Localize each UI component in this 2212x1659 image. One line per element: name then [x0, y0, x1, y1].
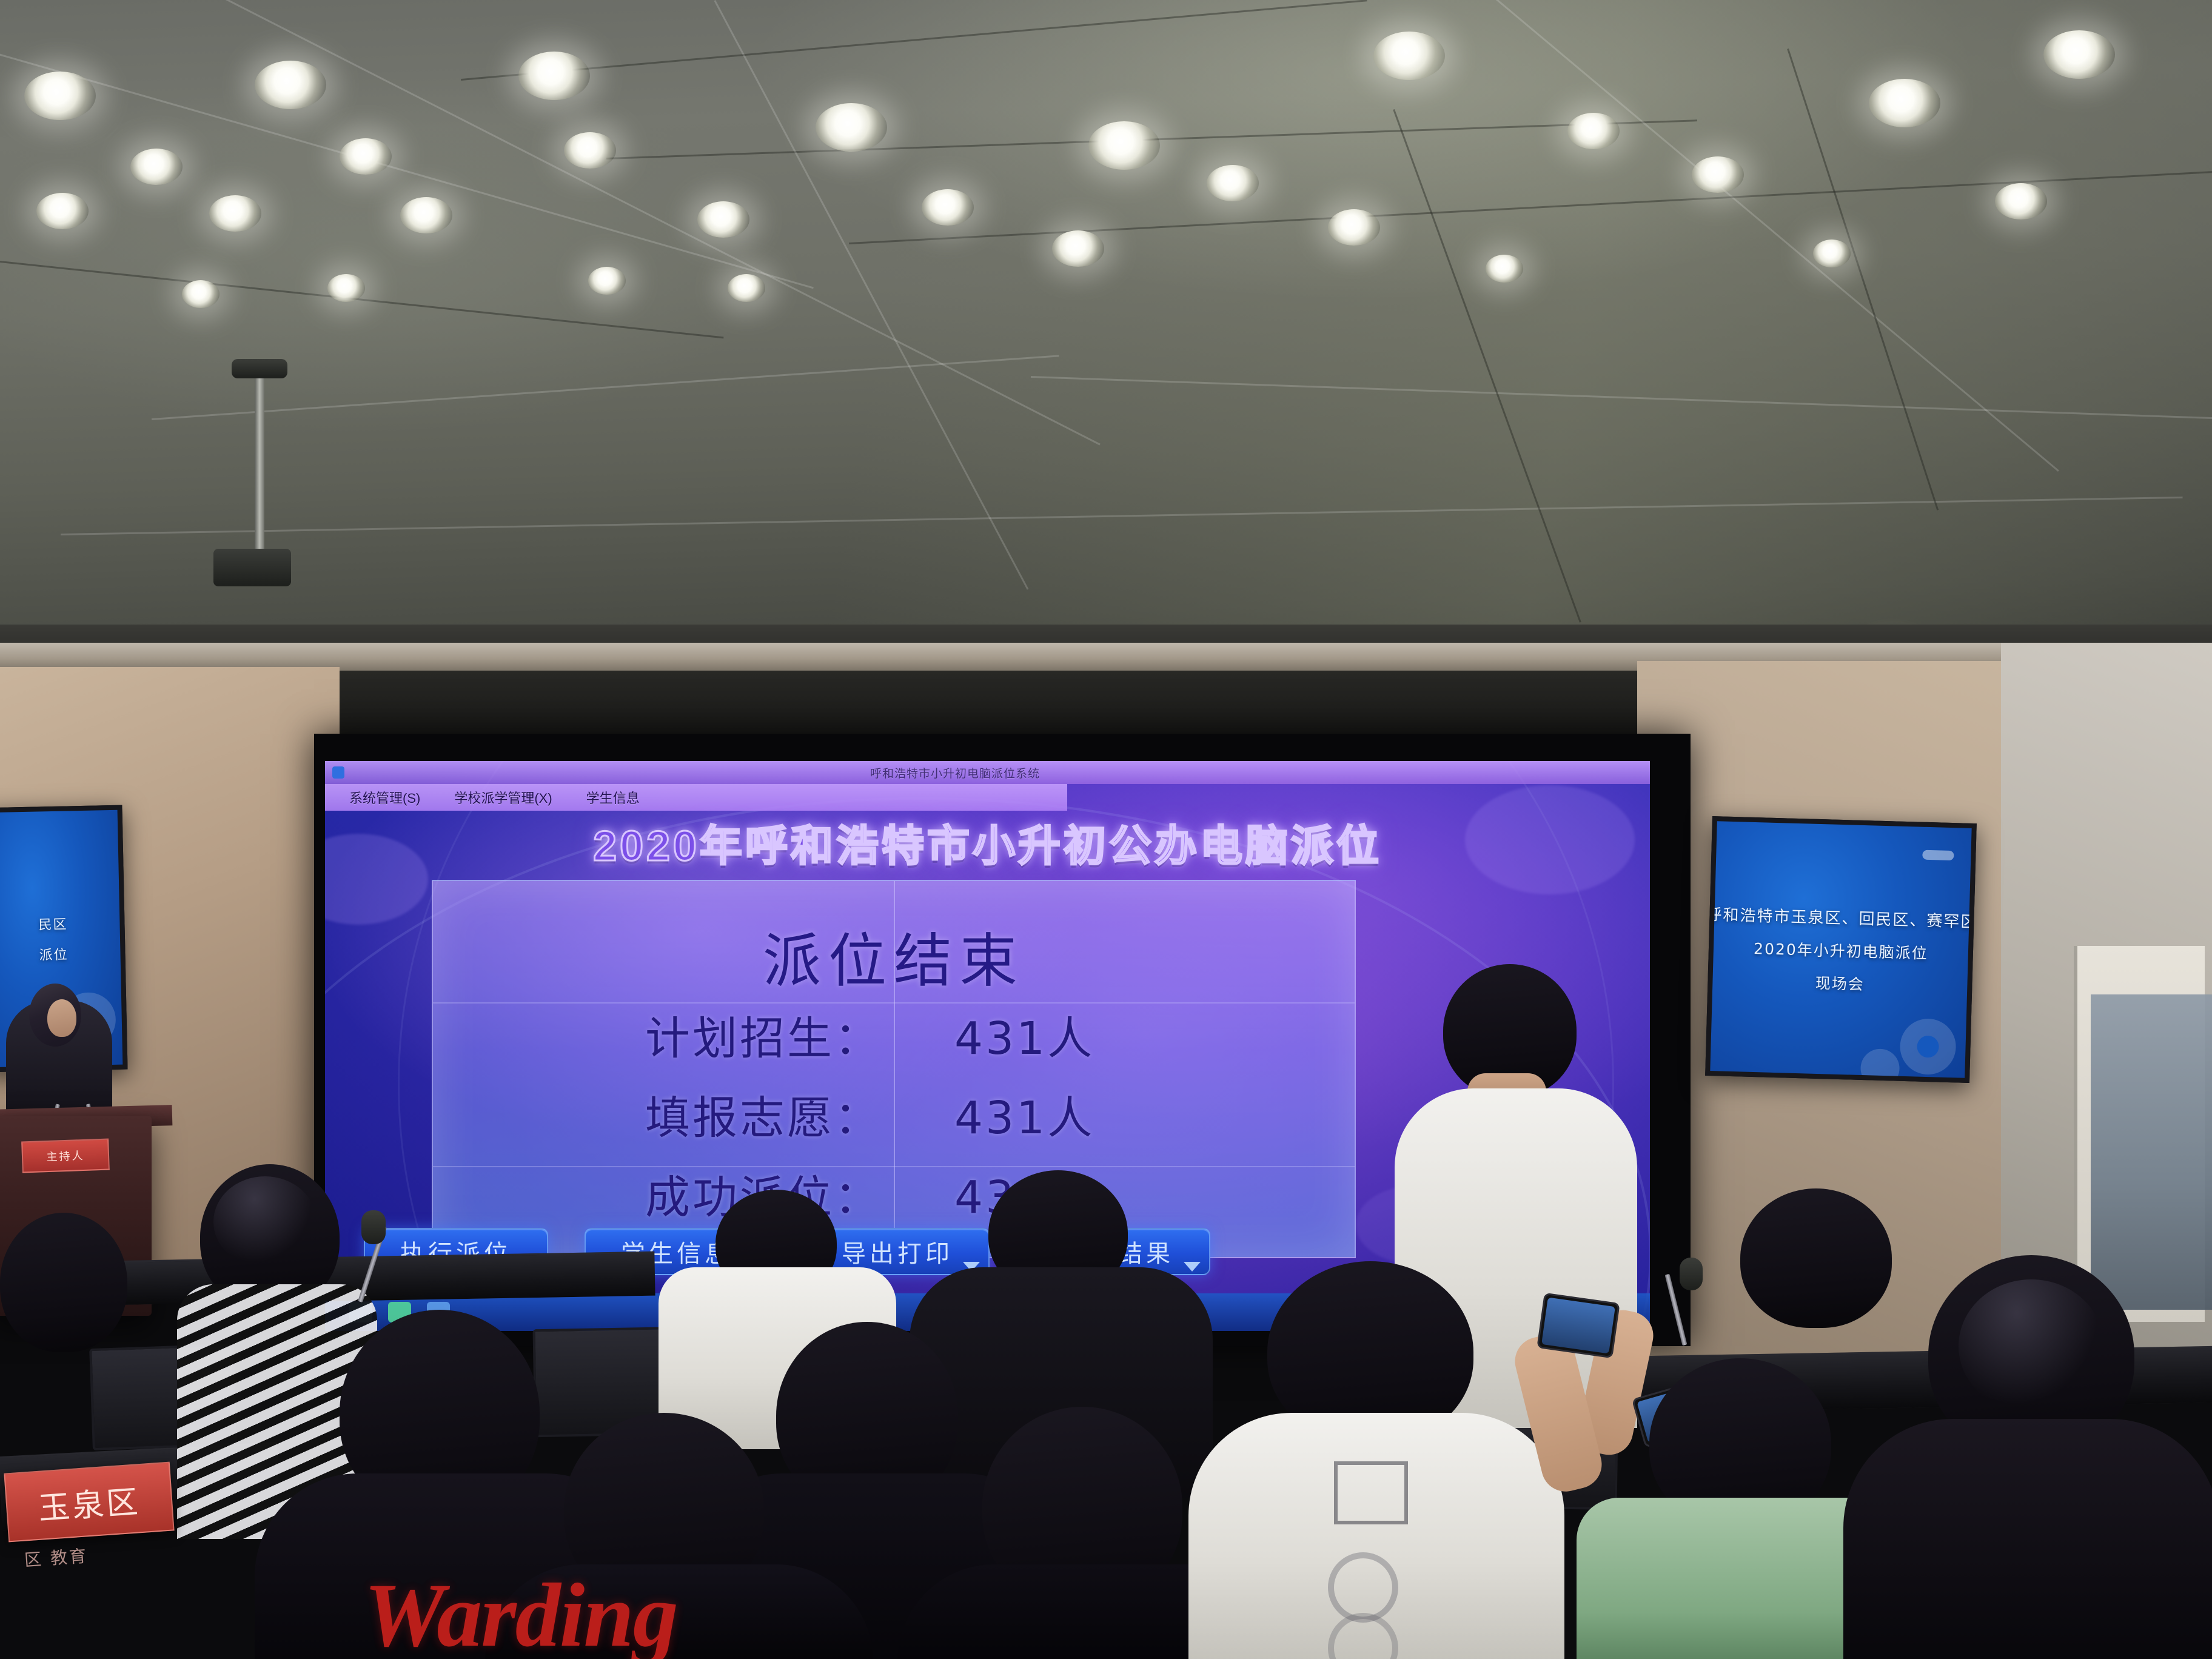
projector-pole — [255, 370, 264, 558]
result-headline: 派位结束 — [433, 914, 1355, 998]
tee-graphic-circle — [1328, 1552, 1398, 1623]
result-stats-list: 计划招生： 431人 填报志愿： 431人 成功派位： 431人 — [433, 1002, 1355, 1226]
ceiling-downlight — [340, 138, 392, 175]
ceiling-downlight — [182, 280, 220, 308]
banner-title: 2020年呼和浩特市小升初公办电脑派位 — [593, 812, 1382, 873]
ceiling-downlight — [400, 197, 452, 233]
tee-graphic-square — [1334, 1461, 1408, 1524]
ceiling-downlight — [1088, 121, 1160, 170]
ceiling-downlight — [2043, 30, 2115, 79]
result-panel: 派位结束 计划招生： 431人 填报志愿： 431人 成功派位： 431人 — [432, 880, 1356, 1258]
ceiling-downlight — [816, 103, 887, 152]
window-title: 呼和浩特市小升初电脑派位系统 — [870, 765, 1040, 781]
cloud-decoration — [1465, 785, 1635, 894]
ceiling-downlight — [36, 193, 89, 229]
smartphone-screen — [1541, 1298, 1615, 1354]
door-glass-panel — [2091, 994, 2212, 1310]
app-icon — [332, 766, 344, 779]
stat-row-applications: 填报志愿： 431人 — [585, 1082, 1203, 1147]
ceiling-downlight — [1995, 183, 2047, 220]
stat-value: 431人 — [930, 1082, 1203, 1147]
ceiling-downlight — [697, 201, 749, 238]
desk-microphone-capsule — [1680, 1258, 1703, 1290]
wall-display-right: 呼和浩特市玉泉区、回民区、赛罕区 2020年小升初电脑派位 现场会 — [1705, 816, 1977, 1083]
menu-item-student-info[interactable]: 学生信息 — [586, 788, 640, 807]
keyboard-brand-text: Warding — [364, 1563, 677, 1659]
chevron-down-icon[interactable] — [1184, 1262, 1201, 1272]
menu-item-school-placement[interactable]: 学校派学管理(X) — [454, 788, 552, 807]
menu-bar[interactable]: 系统管理(S) 学校派学管理(X) 学生信息 — [325, 784, 1067, 811]
stat-label: 填报志愿： — [585, 1082, 930, 1147]
wall-display-right-screen: 呼和浩特市玉泉区、回民区、赛罕区 2020年小升初电脑派位 现场会 — [1710, 821, 1971, 1078]
hair-highlight — [213, 1176, 317, 1267]
menu-item-system[interactable]: 系统管理(S) — [349, 788, 420, 807]
ceiling-downlight — [24, 72, 96, 120]
ceiling-downlight — [1052, 230, 1104, 267]
ceiling-downlight — [255, 61, 326, 109]
ceiling-downlight — [1373, 32, 1445, 80]
ceiling-downlight — [922, 189, 974, 226]
ceiling-downlight — [564, 132, 616, 169]
ceiling-downlight — [1207, 165, 1259, 201]
highlight-streak — [1922, 850, 1954, 860]
smartphone[interactable] — [1537, 1293, 1620, 1359]
ceiling — [0, 0, 2212, 716]
audience-head — [1740, 1188, 1892, 1328]
ceiling-downlight — [1328, 209, 1380, 246]
ceiling-downlight — [518, 52, 590, 100]
ceiling-downlight — [588, 267, 626, 295]
gear-decoration-icon — [1860, 1048, 1900, 1078]
speaker-face — [47, 999, 76, 1037]
wall-display-left-line1: 民区 — [38, 914, 68, 934]
cloud-decoration — [325, 834, 428, 925]
window-title-bar[interactable]: 呼和浩特市小升初电脑派位系统 — [325, 761, 1650, 784]
wall-display-left-line2: 派位 — [39, 943, 69, 964]
ceiling-downlight — [1567, 113, 1620, 149]
projector-body — [213, 549, 291, 586]
stat-row-planned-enrollment: 计划招生： 431人 — [585, 1002, 1203, 1067]
ceiling-downlight — [327, 274, 365, 302]
wall-display-right-line2: 2020年小升初电脑派位 — [1754, 936, 1929, 963]
ceiling-downlight — [728, 274, 765, 302]
desk-nameplate-secondary: 区 教育 — [24, 1543, 89, 1571]
audience-body-front — [1843, 1419, 2212, 1659]
podium-nameplate: 主持人 — [21, 1139, 110, 1173]
stat-value: 431人 — [930, 1002, 1203, 1067]
ceiling-downlight — [1813, 240, 1851, 267]
wall-display-right-line3: 现场会 — [1815, 971, 1865, 994]
desk-nameplate: 玉泉区 — [4, 1462, 174, 1543]
stat-label: 计划招生： — [585, 1002, 930, 1067]
wall-display-right-line1: 呼和浩特市玉泉区、回民区、赛罕区 — [1710, 902, 1971, 931]
desk-microphone-capsule — [361, 1210, 386, 1244]
photo-scene: 呼和浩特市小升初电脑派位系统 系统管理(S) 学校派学管理(X) 学生信息 20… — [0, 0, 2212, 1659]
hair-highlight — [1959, 1279, 2104, 1413]
ceiling-downlight — [209, 195, 261, 232]
audience-head — [0, 1213, 127, 1352]
ceiling-downlight — [130, 149, 183, 185]
export-print-label: 导出打印 — [842, 1234, 953, 1269]
ceiling-downlight — [1869, 79, 1940, 127]
ceiling-downlight — [1486, 255, 1523, 283]
projector-mount — [232, 359, 287, 378]
ceiling-downlight — [1692, 156, 1744, 193]
